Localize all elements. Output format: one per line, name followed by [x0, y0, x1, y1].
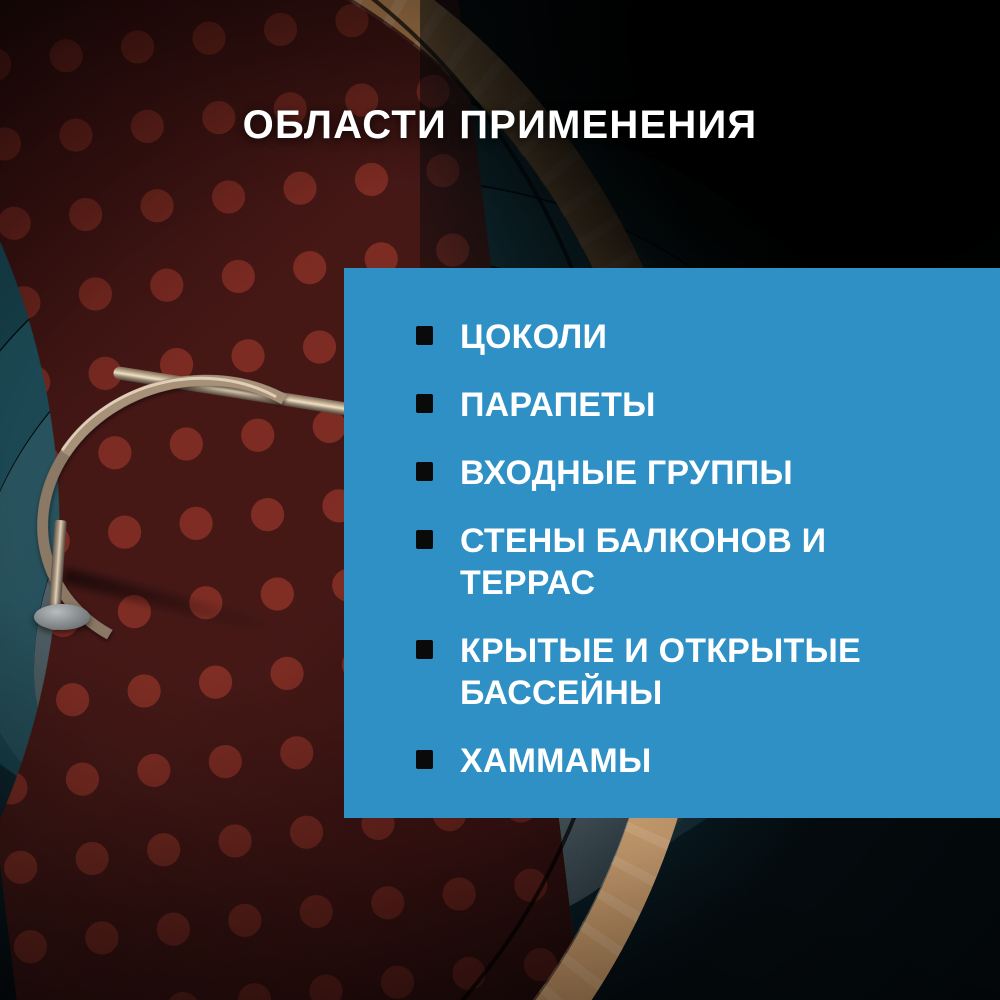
- list-item: ХАММАМЫ: [416, 740, 970, 782]
- square-bullet-icon: [416, 750, 433, 769]
- poster-canvas: ОБЛАСТИ ПРИМЕНЕНИЯ ЦОКОЛИ ПАРАПЕТЫ ВХОДН…: [0, 0, 1000, 1000]
- applications-list: ЦОКОЛИ ПАРАПЕТЫ ВХОДНЫЕ ГРУППЫ СТЕНЫ БАЛ…: [416, 316, 970, 782]
- square-bullet-icon: [416, 640, 433, 659]
- list-item-label: ПАРАПЕТЫ: [460, 384, 970, 426]
- list-item-label: КРЫТЫЕ И ОТКРЫТЫЕ БАССЕЙНЫ: [460, 630, 970, 714]
- list-item-label: ХАММАМЫ: [460, 740, 970, 782]
- list-item: КРЫТЫЕ И ОТКРЫТЫЕ БАССЕЙНЫ: [416, 630, 970, 714]
- list-item-label: СТЕНЫ БАЛКОНОВ И ТЕРРАС: [460, 520, 970, 604]
- applications-panel: ЦОКОЛИ ПАРАПЕТЫ ВХОДНЫЕ ГРУППЫ СТЕНЫ БАЛ…: [344, 268, 1000, 818]
- square-bullet-icon: [416, 394, 433, 413]
- list-item: ВХОДНЫЕ ГРУППЫ: [416, 452, 970, 494]
- list-item: ЦОКОЛИ: [416, 316, 970, 358]
- square-bullet-icon: [416, 530, 433, 549]
- square-bullet-icon: [416, 326, 433, 345]
- list-item-label: ЦОКОЛИ: [460, 316, 970, 358]
- square-bullet-icon: [416, 462, 433, 481]
- list-item: СТЕНЫ БАЛКОНОВ И ТЕРРАС: [416, 520, 970, 604]
- list-item: ПАРАПЕТЫ: [416, 384, 970, 426]
- list-item-label: ВХОДНЫЕ ГРУППЫ: [460, 452, 970, 494]
- page-title: ОБЛАСТИ ПРИМЕНЕНИЯ: [0, 105, 1000, 145]
